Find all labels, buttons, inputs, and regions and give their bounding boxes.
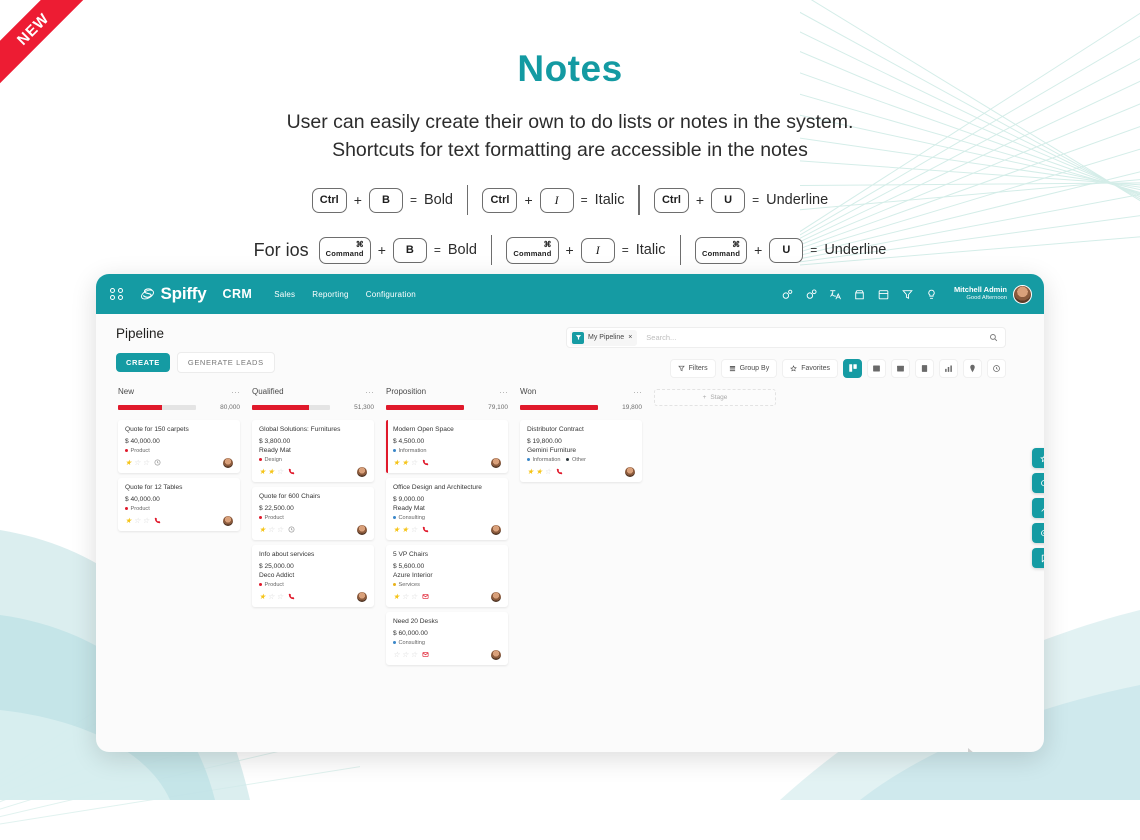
add-stage-button[interactable]: + Stage bbox=[654, 389, 776, 406]
card-avatar[interactable] bbox=[223, 516, 233, 526]
messages-icon[interactable] bbox=[805, 288, 818, 301]
command-label: Command bbox=[702, 249, 740, 258]
shortcut-command-italic: ⌘ Command + I = Italic bbox=[506, 237, 665, 264]
new-ribbon: NEW bbox=[0, 0, 84, 84]
kanban-card[interactable]: Need 20 Desks $ 60,000.00 Consulting ☆☆☆ bbox=[386, 612, 508, 665]
user-name: Mitchell Admin bbox=[954, 286, 1007, 295]
groupby-button[interactable]: Group By bbox=[721, 359, 778, 378]
kanban-card[interactable]: Modern Open Space $ 4,500.00 Information… bbox=[386, 420, 508, 473]
subtitle-line-1: User can easily create their own to do l… bbox=[0, 108, 1140, 136]
kanban-column-won: Won ⋯ 19,800 Distributor Contract $ 19,8… bbox=[520, 387, 642, 665]
shortcut-ctrl-underline: Ctrl + U = Underline bbox=[654, 188, 828, 213]
result-underline: Underline bbox=[824, 242, 886, 258]
kanban-card[interactable]: Quote for 150 carpets $ 40,000.00 Produc… bbox=[118, 420, 240, 473]
card-avatar[interactable] bbox=[625, 467, 635, 477]
kanban-card[interactable]: Quote for 600 Chairs $ 22,500.00 Product… bbox=[252, 487, 374, 540]
column-progress bbox=[118, 405, 196, 410]
translate-icon[interactable] bbox=[829, 288, 842, 301]
ios-label: For ios bbox=[254, 240, 309, 261]
equals-sign: = bbox=[434, 243, 441, 257]
search-icon[interactable] bbox=[989, 329, 998, 347]
kanban-column-qualified: Qualified ⋯ 51,300 Global Solutions: Fur… bbox=[252, 387, 374, 665]
column-amount: 51,300 bbox=[354, 404, 374, 411]
facet-label: My Pipeline bbox=[588, 334, 624, 341]
card-priority-stars[interactable]: ★★☆ bbox=[393, 459, 417, 467]
zoom-search-icon bbox=[1040, 529, 1045, 538]
plus-sign: + bbox=[524, 192, 532, 208]
phone-icon[interactable] bbox=[556, 468, 563, 475]
search-panel-icon bbox=[1040, 479, 1045, 488]
column-menu-icon[interactable]: ⋯ bbox=[499, 390, 508, 394]
card-amount: $ 22,500.00 bbox=[259, 505, 367, 512]
card-priority-stars[interactable]: ★☆☆ bbox=[125, 517, 149, 525]
search-facet-my-pipeline[interactable]: My Pipeline × bbox=[570, 330, 637, 346]
key-command: ⌘ Command bbox=[506, 237, 558, 264]
plus-sign: + bbox=[378, 242, 386, 258]
card-amount: $ 5,600.00 bbox=[393, 563, 501, 570]
column-menu-icon[interactable]: ⋯ bbox=[365, 390, 374, 394]
phone-icon[interactable] bbox=[288, 468, 295, 475]
card-partner: Azure Interior bbox=[393, 572, 501, 579]
kanban-card[interactable]: Global Solutions: Furnitures $ 3,800.00 … bbox=[252, 420, 374, 482]
add-stage-plus: + bbox=[703, 394, 707, 401]
card-amount: $ 60,000.00 bbox=[393, 630, 501, 637]
kanban-card[interactable]: Quote for 12 Tables $ 40,000.00 Product … bbox=[118, 478, 240, 531]
key-u: U bbox=[769, 238, 803, 263]
column-title: Won bbox=[520, 387, 536, 396]
card-amount: $ 25,000.00 bbox=[259, 563, 367, 570]
favorite-star-button[interactable] bbox=[1032, 448, 1044, 468]
card-priority-stars[interactable]: ★☆☆ bbox=[393, 593, 417, 601]
card-avatar[interactable] bbox=[491, 592, 501, 602]
card-title: Office Design and Architecture bbox=[393, 484, 501, 493]
filter-icon[interactable] bbox=[901, 288, 914, 301]
column-amount: 79,100 bbox=[488, 404, 508, 411]
card-tag: Product bbox=[125, 506, 150, 512]
column-title: Proposition bbox=[386, 387, 426, 396]
star-icon bbox=[790, 365, 797, 372]
command-symbol: ⌘ bbox=[544, 241, 552, 249]
card-title: Distributor Contract bbox=[527, 426, 635, 435]
kanban-column-new: New ⋯ 80,000 Quote for 150 carpets $ 40,… bbox=[118, 387, 240, 665]
shortcut-command-underline: ⌘ Command + U = Underline bbox=[695, 237, 886, 264]
column-menu-icon[interactable]: ⋯ bbox=[231, 390, 240, 394]
email-icon[interactable] bbox=[422, 651, 429, 658]
result-underline: Underline bbox=[766, 192, 828, 208]
key-u: U bbox=[711, 188, 745, 213]
phone-icon[interactable] bbox=[154, 517, 161, 524]
nav-item-configuration[interactable]: Configuration bbox=[366, 290, 416, 299]
user-menu[interactable]: Mitchell Admin Good Afternoon bbox=[954, 285, 1032, 304]
card-tag: Product bbox=[259, 582, 284, 588]
equals-sign: = bbox=[622, 243, 629, 257]
bookmark-button[interactable] bbox=[1032, 548, 1044, 568]
groupby-icon bbox=[729, 365, 736, 372]
filters-button[interactable]: Filters bbox=[670, 359, 716, 378]
search-panel-button[interactable] bbox=[1032, 473, 1044, 493]
search-bar[interactable]: My Pipeline × Search... bbox=[566, 327, 1006, 348]
new-ribbon-label: NEW bbox=[14, 10, 53, 49]
activity-view-button[interactable] bbox=[987, 359, 1006, 378]
list-view-icon bbox=[872, 364, 881, 373]
equals-sign: = bbox=[410, 193, 417, 207]
control-panel: Pipeline CREATE GENERATE LEADS My Pipeli… bbox=[96, 314, 1044, 373]
kanban-view-button[interactable] bbox=[843, 359, 862, 378]
subtitle-line-2: Shortcuts for text formatting are access… bbox=[0, 136, 1140, 164]
result-bold: Bold bbox=[448, 242, 477, 258]
page-subtitle: User can easily create their own to do l… bbox=[0, 108, 1140, 165]
card-title: 5 VP Chairs bbox=[393, 551, 501, 560]
command-label: Command bbox=[513, 249, 551, 258]
card-avatar[interactable] bbox=[491, 650, 501, 660]
column-progress bbox=[386, 405, 464, 410]
clock-icon[interactable] bbox=[288, 526, 295, 533]
generate-leads-button[interactable]: GENERATE LEADS bbox=[177, 352, 275, 373]
card-priority-stars[interactable]: ☆☆☆ bbox=[393, 651, 417, 659]
column-title: New bbox=[118, 387, 134, 396]
spiffy-logo-icon bbox=[139, 286, 156, 303]
nav-menu: Sales Reporting Configuration bbox=[274, 290, 416, 299]
key-i: I bbox=[540, 188, 574, 213]
shortcut-ctrl-bold: Ctrl + B = Bold bbox=[312, 188, 453, 213]
shortcut-divider bbox=[680, 235, 682, 265]
map-view-icon bbox=[968, 364, 977, 373]
navbar-right: Mitchell Admin Good Afternoon bbox=[781, 285, 1032, 304]
card-title: Quote for 150 carpets bbox=[125, 426, 233, 435]
kanban-card[interactable]: 5 VP Chairs $ 5,600.00 Azure Interior Se… bbox=[386, 545, 508, 607]
shortcut-row-windows: Ctrl + B = Bold Ctrl + I = Italic Ctrl +… bbox=[0, 180, 1140, 220]
card-amount: $ 4,500.00 bbox=[393, 438, 501, 445]
shortcut-row-ios: For ios ⌘ Command + B = Bold ⌘ Command +… bbox=[0, 230, 1140, 270]
result-italic: Italic bbox=[595, 192, 625, 208]
mouse-cursor bbox=[968, 748, 978, 752]
apps-grid-icon[interactable] bbox=[110, 288, 123, 301]
plus-sign: + bbox=[354, 192, 362, 208]
clock-icon[interactable] bbox=[154, 459, 161, 466]
filters-label: Filters bbox=[689, 365, 708, 372]
graph-view-button[interactable] bbox=[939, 359, 958, 378]
activities-icon[interactable] bbox=[781, 288, 794, 301]
column-menu-icon[interactable]: ⋯ bbox=[633, 390, 642, 394]
card-avatar[interactable] bbox=[357, 592, 367, 602]
kanban-view-icon bbox=[848, 363, 858, 373]
shortcut-command-bold: ⌘ Command + B = Bold bbox=[319, 237, 477, 264]
card-title: Global Solutions: Furnitures bbox=[259, 426, 367, 435]
column-amount: 19,800 bbox=[622, 404, 642, 411]
map-view-button[interactable] bbox=[963, 359, 982, 378]
card-amount: $ 40,000.00 bbox=[125, 496, 233, 503]
kanban-board: New ⋯ 80,000 Quote for 150 carpets $ 40,… bbox=[96, 373, 1044, 665]
shop-icon[interactable] bbox=[853, 288, 866, 301]
brand-name: Spiffy bbox=[161, 284, 207, 304]
plus-sign: + bbox=[566, 242, 574, 258]
key-i: I bbox=[581, 238, 615, 263]
kanban-card[interactable]: Info about services $ 25,000.00 Deco Add… bbox=[252, 545, 374, 607]
calendar-icon[interactable] bbox=[877, 288, 890, 301]
calendar-view-button[interactable] bbox=[891, 359, 910, 378]
pivot-view-icon bbox=[920, 364, 929, 373]
card-tag: Product bbox=[125, 448, 150, 454]
nav-item-sales[interactable]: Sales bbox=[274, 290, 295, 299]
view-switcher-bar: Filters Group By Favorites bbox=[566, 358, 1006, 378]
card-priority-stars[interactable]: ★★☆ bbox=[527, 468, 551, 476]
key-command: ⌘ Command bbox=[319, 237, 371, 264]
kanban-column-proposition: Proposition ⋯ 79,100 Modern Open Space $… bbox=[386, 387, 508, 665]
favorite-star-icon bbox=[1040, 454, 1045, 463]
card-avatar[interactable] bbox=[491, 525, 501, 535]
card-partner: Gemini Furniture bbox=[527, 447, 635, 454]
card-priority-stars[interactable]: ★★☆ bbox=[393, 526, 417, 534]
card-avatar[interactable] bbox=[357, 525, 367, 535]
favorites-button[interactable]: Favorites bbox=[782, 359, 838, 378]
tips-icon[interactable] bbox=[925, 288, 938, 301]
card-tag: Other bbox=[566, 457, 586, 463]
card-title: Quote for 12 Tables bbox=[125, 484, 233, 493]
app-navbar: Spiffy CRM Sales Reporting Configuration bbox=[96, 274, 1044, 314]
key-b: B bbox=[369, 188, 403, 213]
command-symbol: ⌘ bbox=[732, 241, 740, 249]
brand-logo[interactable]: Spiffy bbox=[139, 284, 207, 304]
phone-icon[interactable] bbox=[422, 459, 429, 466]
column-amount: 80,000 bbox=[220, 404, 240, 411]
card-priority-stars[interactable]: ★★☆ bbox=[259, 468, 283, 476]
bookmark-icon bbox=[1040, 554, 1045, 563]
create-button[interactable]: CREATE bbox=[116, 353, 170, 372]
card-tag: Consulting bbox=[393, 640, 425, 646]
side-action-buttons bbox=[1032, 448, 1044, 568]
card-tag: Product bbox=[259, 515, 284, 521]
list-view-button[interactable] bbox=[867, 359, 886, 378]
kanban-card[interactable]: Distributor Contract $ 19,800.00 Gemini … bbox=[520, 420, 642, 482]
card-amount: $ 9,000.00 bbox=[393, 496, 501, 503]
plus-sign: + bbox=[696, 192, 704, 208]
column-progress bbox=[520, 405, 598, 410]
card-tag: Information bbox=[527, 457, 560, 463]
card-priority-stars[interactable]: ★☆☆ bbox=[125, 459, 149, 467]
zoom-search-button[interactable] bbox=[1032, 523, 1044, 543]
result-italic: Italic bbox=[636, 242, 666, 258]
expand-arrow-button[interactable] bbox=[1032, 498, 1044, 518]
column-title: Qualified bbox=[252, 387, 284, 396]
card-priority-stars[interactable]: ★☆☆ bbox=[259, 526, 283, 534]
key-b: B bbox=[393, 238, 427, 263]
card-amount: $ 40,000.00 bbox=[125, 438, 233, 445]
card-partner: Deco Addict bbox=[259, 572, 367, 579]
shortcut-divider bbox=[491, 235, 493, 265]
page-title: Notes bbox=[0, 48, 1140, 90]
card-partner: Ready Mat bbox=[259, 447, 367, 454]
shortcut-ctrl-italic: Ctrl + I = Italic bbox=[482, 188, 624, 213]
groupby-label: Group By bbox=[740, 365, 770, 372]
shortcut-divider bbox=[467, 185, 469, 215]
card-tag: Consulting bbox=[393, 515, 425, 521]
card-tag: Design bbox=[259, 457, 282, 463]
phone-icon[interactable] bbox=[288, 593, 295, 600]
funnel-icon bbox=[572, 332, 584, 344]
plus-sign: + bbox=[754, 242, 762, 258]
search-input[interactable]: Search... bbox=[646, 333, 676, 342]
nav-item-reporting[interactable]: Reporting bbox=[312, 290, 349, 299]
card-partner: Ready Mat bbox=[393, 505, 501, 512]
calendar-view-icon bbox=[896, 364, 905, 373]
facet-remove-icon[interactable]: × bbox=[628, 334, 632, 341]
user-greeting: Good Afternoon bbox=[954, 295, 1007, 302]
shortcut-legend: Ctrl + B = Bold Ctrl + I = Italic Ctrl +… bbox=[0, 180, 1140, 270]
key-command: ⌘ Command bbox=[695, 237, 747, 264]
command-symbol: ⌘ bbox=[356, 241, 364, 249]
card-title: Quote for 600 Chairs bbox=[259, 493, 367, 502]
app-window: Spiffy CRM Sales Reporting Configuration bbox=[96, 274, 1044, 752]
key-ctrl: Ctrl bbox=[482, 188, 517, 213]
card-amount: $ 19,800.00 bbox=[527, 438, 635, 445]
column-progress bbox=[252, 405, 330, 410]
result-bold: Bold bbox=[424, 192, 453, 208]
shortcut-divider bbox=[638, 185, 640, 215]
card-tag: Information bbox=[393, 448, 426, 454]
equals-sign: = bbox=[810, 243, 817, 257]
card-priority-stars[interactable]: ★☆☆ bbox=[259, 593, 283, 601]
card-avatar[interactable] bbox=[223, 458, 233, 468]
filter-icon bbox=[678, 365, 685, 372]
card-tag: Services bbox=[393, 582, 420, 588]
avatar[interactable] bbox=[1013, 285, 1032, 304]
card-avatar[interactable] bbox=[357, 467, 367, 477]
card-title: Need 20 Desks bbox=[393, 618, 501, 627]
card-title: Modern Open Space bbox=[393, 426, 501, 435]
card-amount: $ 3,800.00 bbox=[259, 438, 367, 445]
email-icon[interactable] bbox=[422, 593, 429, 600]
pivot-view-button[interactable] bbox=[915, 359, 934, 378]
activity-view-icon bbox=[992, 364, 1001, 373]
equals-sign: = bbox=[581, 193, 588, 207]
add-stage-label: Stage bbox=[710, 394, 727, 401]
phone-icon[interactable] bbox=[422, 526, 429, 533]
key-ctrl: Ctrl bbox=[312, 188, 347, 213]
expand-arrow-icon bbox=[1040, 504, 1045, 513]
card-title: Info about services bbox=[259, 551, 367, 560]
current-app-label[interactable]: CRM bbox=[223, 287, 253, 301]
key-ctrl: Ctrl bbox=[654, 188, 689, 213]
favorites-label: Favorites bbox=[801, 365, 830, 372]
command-label: Command bbox=[326, 249, 364, 258]
card-avatar[interactable] bbox=[491, 458, 501, 468]
kanban-card[interactable]: Office Design and Architecture $ 9,000.0… bbox=[386, 478, 508, 540]
graph-view-icon bbox=[944, 364, 953, 373]
equals-sign: = bbox=[752, 193, 759, 207]
